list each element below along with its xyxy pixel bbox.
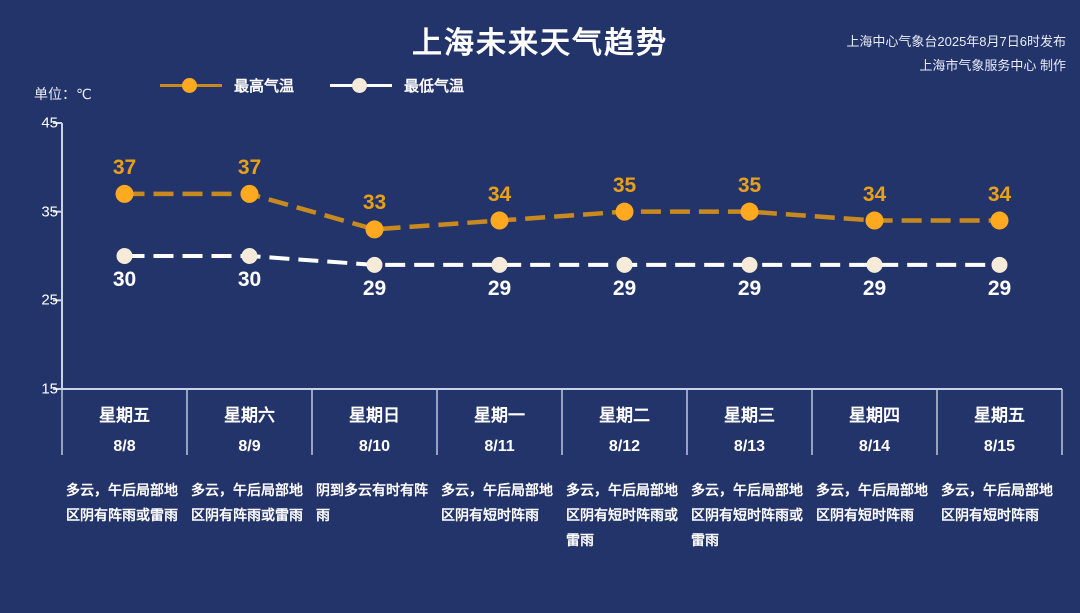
day-date-label: 8/12 (562, 438, 687, 456)
weather-trend-chart: 上海未来天气趋势 上海中心气象台2025年8月7日6时发布 上海市气象服务中心 … (0, 0, 1080, 613)
day-date-label: 8/10 (312, 438, 437, 456)
day-description: 多云，午后局部地区阴有短时阵雨或雷雨 (687, 478, 812, 553)
day-weekday-label: 星期日 (312, 401, 437, 426)
day-description: 多云，午后局部地区阴有短时阵雨 (812, 478, 937, 528)
day-column: 星期四8/14多云，午后局部地区阴有短时阵雨 (812, 389, 937, 528)
high-temp-label: 34 (488, 183, 511, 207)
y-tick-label: 35 (24, 203, 58, 220)
day-date-label: 8/14 (812, 438, 937, 456)
legend-label-low: 最低气温 (404, 75, 464, 96)
high-temp-label: 35 (613, 174, 636, 198)
low-temp-label: 29 (738, 277, 761, 301)
day-weekday-label: 星期六 (187, 401, 312, 426)
day-column: 星期二8/12多云，午后局部地区阴有短时阵雨或雷雨 (562, 389, 687, 553)
day-weekday-label: 星期五 (937, 401, 1062, 426)
legend-line-low (330, 84, 392, 87)
legend-label-high: 最高气温 (234, 75, 294, 96)
day-date-label: 8/13 (687, 438, 812, 456)
attribution: 上海中心气象台2025年8月7日6时发布 上海市气象服务中心 制作 (846, 30, 1066, 78)
attribution-producer: 上海市气象服务中心 制作 (846, 54, 1066, 78)
day-column: 星期三8/13多云，午后局部地区阴有短时阵雨或雷雨 (687, 389, 812, 553)
x-axis-day-columns: 星期五8/8多云，午后局部地区阴有阵雨或雷雨星期六8/9多云，午后局部地区阴有阵… (0, 389, 1080, 613)
attribution-issuer: 上海中心气象台2025年8月7日6时发布 (846, 30, 1066, 54)
high-temp-label: 37 (113, 156, 136, 180)
legend-dot-low (352, 78, 367, 93)
low-temp-label: 29 (363, 277, 386, 301)
y-tick-label: 25 (24, 292, 58, 309)
day-date-label: 8/11 (437, 438, 562, 456)
day-column: 星期六8/9多云，午后局部地区阴有阵雨或雷雨 (187, 389, 312, 528)
day-description: 多云，午后局部地区阴有阵雨或雷雨 (187, 478, 312, 528)
low-temp-label: 29 (863, 277, 886, 301)
day-column: 星期五8/15多云，午后局部地区阴有短时阵雨 (937, 389, 1062, 528)
legend-line-high (160, 84, 222, 87)
day-column: 星期一8/11多云，午后局部地区阴有短时阵雨 (437, 389, 562, 528)
low-temp-label: 30 (238, 268, 261, 292)
high-temp-label: 34 (863, 183, 886, 207)
unit-label: 单位：℃ (34, 84, 92, 104)
day-description: 阴到多云有时有阵雨 (312, 478, 437, 528)
high-temp-label: 35 (738, 174, 761, 198)
day-date-label: 8/9 (187, 438, 312, 456)
day-weekday-label: 星期三 (687, 401, 812, 426)
day-description: 多云，午后局部地区阴有短时阵雨 (437, 478, 562, 528)
high-temp-label: 37 (238, 156, 261, 180)
low-temp-label: 29 (613, 277, 636, 301)
day-date-label: 8/15 (937, 438, 1062, 456)
legend-dot-high (182, 78, 197, 93)
day-description: 多云，午后局部地区阴有短时阵雨 (937, 478, 1062, 528)
y-tick-label: 45 (24, 115, 58, 132)
day-weekday-label: 星期五 (62, 401, 187, 426)
low-temp-label: 29 (488, 277, 511, 301)
day-column: 星期五8/8多云，午后局部地区阴有阵雨或雷雨 (62, 389, 187, 528)
legend-item-low: 最低气温 (330, 74, 464, 96)
day-column: 星期日8/10阴到多云有时有阵雨 (312, 389, 437, 528)
high-temp-label: 33 (363, 191, 386, 215)
day-date-label: 8/8 (62, 438, 187, 456)
legend-item-high: 最高气温 (160, 74, 294, 96)
day-weekday-label: 星期四 (812, 401, 937, 426)
low-temp-label: 29 (988, 277, 1011, 301)
day-weekday-label: 星期二 (562, 401, 687, 426)
day-description: 多云，午后局部地区阴有短时阵雨或雷雨 (562, 478, 687, 553)
low-temp-label: 30 (113, 268, 136, 292)
day-weekday-label: 星期一 (437, 401, 562, 426)
day-description: 多云，午后局部地区阴有阵雨或雷雨 (62, 478, 187, 528)
high-temp-label: 34 (988, 183, 1011, 207)
